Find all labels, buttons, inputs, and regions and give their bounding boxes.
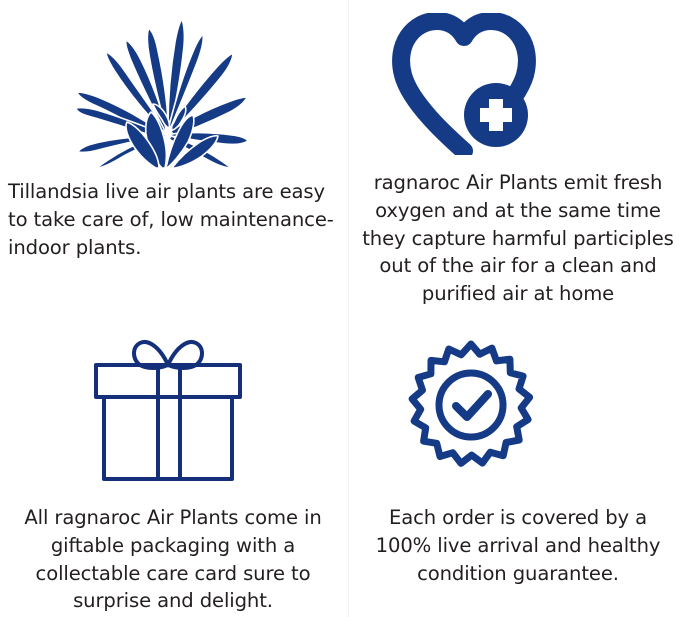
air-plant-tillandsia-icon [4,0,348,178]
gift-box-icon [4,308,348,504]
feature-panel-oxygen: ragnaroc Air Plants emit fresh oxygen an… [348,0,679,308]
feature-caption-gift: All ragnaroc Air Plants come in giftable… [4,504,342,615]
heart-plus-icon [361,0,679,169]
feature-panel-plant: Tillandsia live air plants are easy to t… [0,0,348,308]
feature-grid: Tillandsia live air plants are easy to t… [0,0,679,617]
feature-caption-plant: Tillandsia live air plants are easy to t… [4,178,342,261]
verified-badge-check-icon [361,308,679,504]
feature-panel-guarantee: Each order is covered by a 100% live arr… [348,308,679,617]
feature-caption-oxygen: ragnaroc Air Plants emit fresh oxygen an… [361,169,677,308]
feature-panel-gift: All ragnaroc Air Plants come in giftable… [0,308,348,617]
feature-caption-guarantee: Each order is covered by a 100% live arr… [361,504,677,587]
